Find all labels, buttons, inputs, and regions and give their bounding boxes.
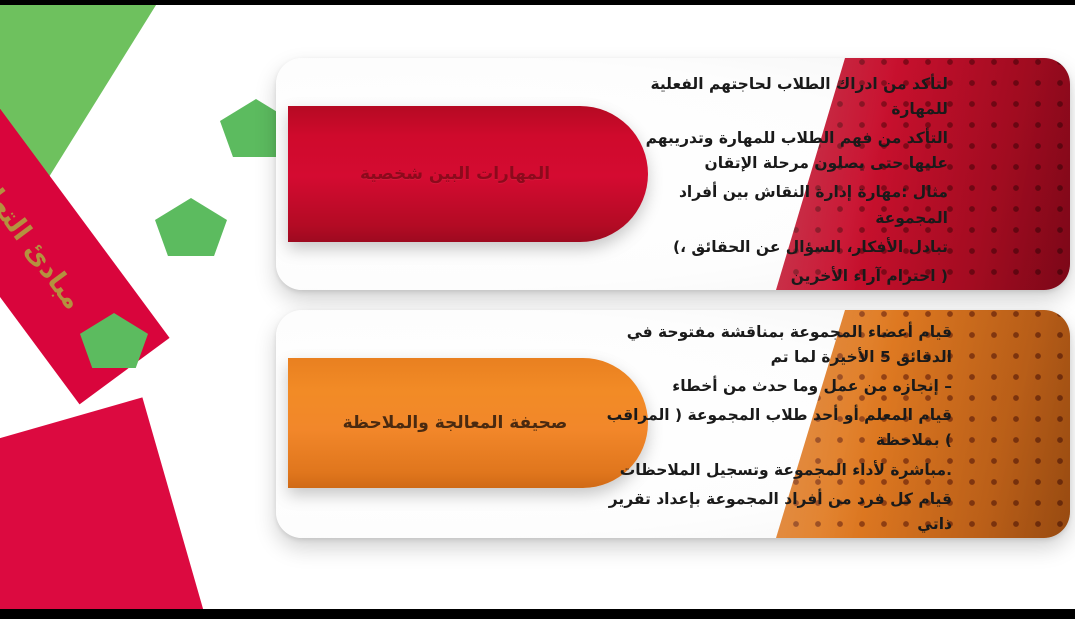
- capsule-label-orange[interactable]: صحيفة المعالجة والملاحظة: [288, 358, 648, 488]
- card-body-processing-observation-sheet: قيام أعضاء المجموعة بمناقشة مفتوحة في ال…: [602, 320, 952, 538]
- letterbox-bottom-bar: [0, 609, 1075, 619]
- card-line: مثال :مهارة إدارة النقاش بين أفراد المجم…: [618, 180, 948, 230]
- card-line: لتأكد من ادراك الطلاب لحاجتهم الفعلية لل…: [618, 72, 948, 122]
- slide-canvas: مبادئ التعلم التعاوني وأسسه المهارات الب…: [0, 0, 1075, 619]
- card-line: قيام المعلم أو أحد طلاب المجموعة ( المرا…: [602, 403, 952, 453]
- red-quadrilateral-shape: [0, 397, 207, 619]
- card-label-processing-observation-sheet: صحيفة المعالجة والملاحظة: [288, 413, 648, 433]
- capsule-label-red[interactable]: المهارات البين شخصية: [288, 106, 648, 242]
- card-label-interpersonal-skills: المهارات البين شخصية: [288, 164, 648, 184]
- pentagon-shape-2: [155, 198, 227, 256]
- card-line: تبادل الأفكار، السؤال عن الحقائق ،): [618, 235, 948, 260]
- card-processing-observation-sheet[interactable]: صحيفة المعالجة والملاحظة قيام أعضاء المج…: [276, 310, 1070, 538]
- card-line: ( احترام آراء الأخرين: [618, 264, 948, 289]
- card-line: التأكد من فهم الطلاب للمهارة وتدريبهم عل…: [618, 126, 948, 176]
- card-body-interpersonal-skills: لتأكد من ادراك الطلاب لحاجتهم الفعلية لل…: [618, 72, 948, 290]
- card-line: قيام أعضاء المجموعة بمناقشة مفتوحة في ال…: [602, 320, 952, 370]
- card-interpersonal-skills[interactable]: المهارات البين شخصية لتأكد من ادراك الطل…: [276, 58, 1070, 290]
- card-line: قيام كل فرد من أفراد المجموعة بإعداد تقر…: [602, 487, 952, 537]
- card-line: – إنجازه من عمل وما حدث من أخطاء: [602, 374, 952, 399]
- card-line: .مباشرة لأداء المجموعة وتسجيل الملاحظات: [602, 458, 952, 483]
- letterbox-top-bar: [0, 0, 1075, 5]
